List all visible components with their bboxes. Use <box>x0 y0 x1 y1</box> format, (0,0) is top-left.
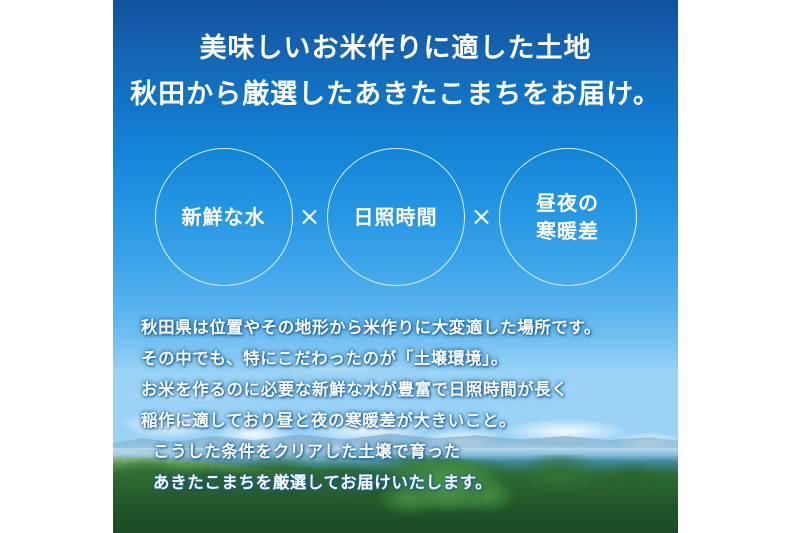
multiply-icon-2: × <box>465 204 499 230</box>
factor-circle-temperature-range: 昼夜の 寒暖差 <box>499 148 637 286</box>
factor-label-fresh-water: 新鮮な水 <box>182 203 266 231</box>
headline-line-1: 美味しいお米作りに適した土地 <box>113 26 678 72</box>
headline: 美味しいお米作りに適した土地 秋田から厳選したあきたこまちをお届け。 <box>113 26 678 118</box>
factor-circles: 新鮮な水 × 日照時間 × 昼夜の 寒暖差 <box>113 147 678 287</box>
multiply-icon-1: × <box>293 204 327 230</box>
description-line-2: その中でも、特にこだわったのが「土壌環境」。 <box>141 343 658 374</box>
description-line-3: お米を作るのに必要な新鮮な水が豊富で日照時間が長く <box>141 374 658 405</box>
headline-line-2: 秋田から厳選したあきたこまちをお届け。 <box>113 72 678 118</box>
factor-label-sunlight-hours: 日照時間 <box>354 203 438 231</box>
description-line-4: 稲作に適しており昼と夜の寒暖差が大きいこと。 <box>141 405 658 436</box>
factor-circle-sunlight-hours: 日照時間 <box>327 148 465 286</box>
factor-circle-fresh-water: 新鮮な水 <box>155 148 293 286</box>
description-paragraph: 秋田県は位置やその地形から米作りに大変適した場所です。 その中でも、特にこだわっ… <box>141 312 658 498</box>
promo-banner: 美味しいお米作りに適した土地 秋田から厳選したあきたこまちをお届け。 新鮮な水 … <box>113 0 678 533</box>
description-line-6: あきたこまちを厳選してお届けいたします。 <box>141 467 658 498</box>
description-line-5: こうした条件をクリアした土壌で育った <box>141 436 658 467</box>
description-line-1: 秋田県は位置やその地形から米作りに大変適した場所です。 <box>141 312 658 343</box>
factor-label-temperature-range: 昼夜の 寒暖差 <box>536 189 599 245</box>
